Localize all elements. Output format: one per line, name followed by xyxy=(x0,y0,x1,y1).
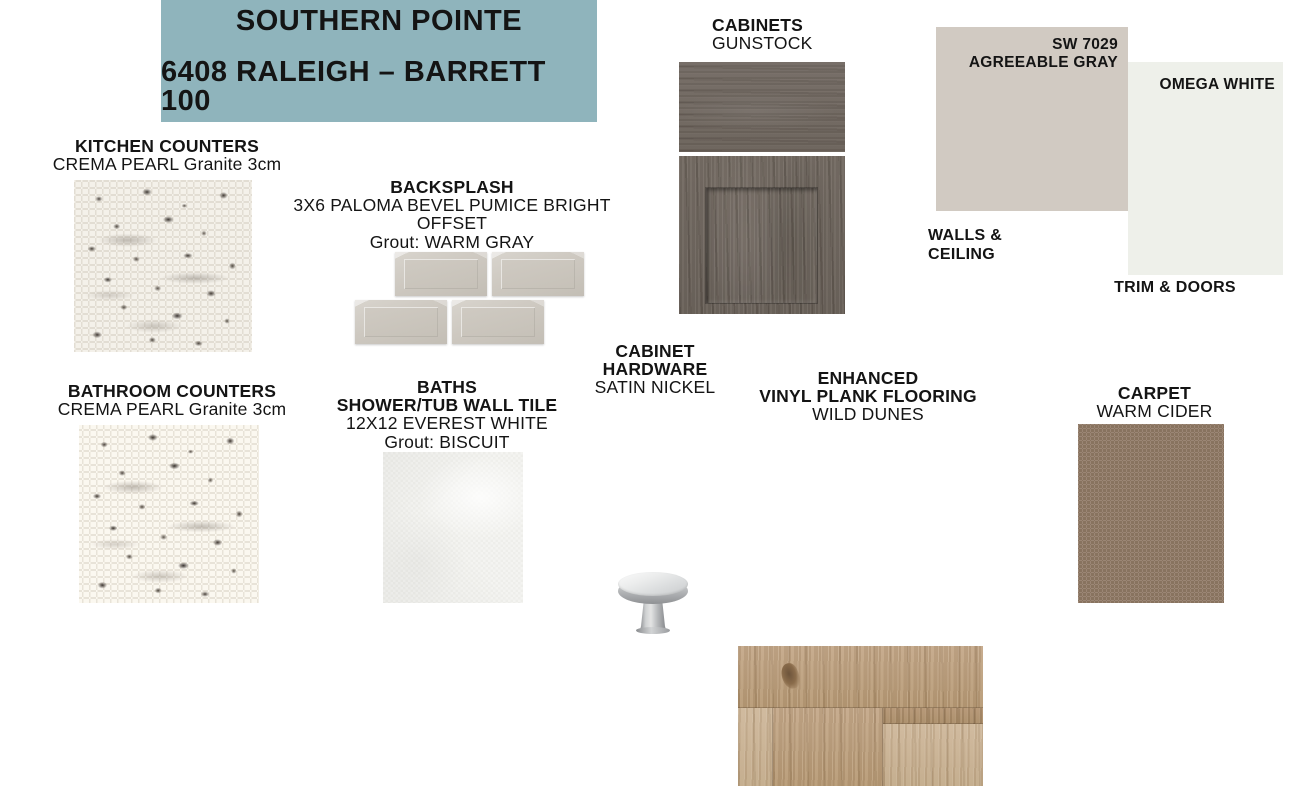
cabinet-hardware-heading: CABINET xyxy=(583,342,727,360)
bathroom-counters-swatch[interactable] xyxy=(79,425,259,603)
vinyl-plank xyxy=(738,708,773,786)
flooring-swatch[interactable] xyxy=(738,646,983,786)
board-title-banner: SOUTHERN POINTE 6408 RALEIGH – BARRETT 1… xyxy=(161,0,597,122)
carpet-label: CARPET WARM CIDER xyxy=(1022,384,1287,420)
flooring-heading2: VINYL PLANK FLOORING xyxy=(718,387,1018,405)
knob-top xyxy=(618,572,688,596)
plank-seam xyxy=(882,708,883,786)
board-title-line1: SOUTHERN POINTE xyxy=(236,7,522,36)
kitchen-counters-swatch[interactable] xyxy=(74,180,252,352)
cabinet-drawer-swatch[interactable] xyxy=(679,62,845,152)
baths-heading2: SHOWER/TUB WALL TILE xyxy=(330,396,564,414)
subway-tile xyxy=(492,252,584,296)
walls-ceiling-caption-line2: CEILING xyxy=(928,245,1088,264)
plank-seam xyxy=(738,707,983,708)
flooring-subheading: WILD DUNES xyxy=(718,405,1018,423)
walls-ceiling-paint-code-name: SW 7029 AGREEABLE GRAY xyxy=(936,36,1118,73)
cabinet-knob-swatch[interactable] xyxy=(613,570,693,632)
backsplash-line2: 3X6 PALOMA BEVEL PUMICE BRIGHT xyxy=(276,196,628,214)
carpet-swatch[interactable] xyxy=(1078,424,1224,603)
kitchen-counters-heading: KITCHEN COUNTERS xyxy=(0,137,334,155)
backsplash-line4: Grout: WARM GRAY xyxy=(276,233,628,251)
subway-tile xyxy=(355,300,447,344)
baths-heading: BATHS xyxy=(330,378,564,396)
cabinet-hardware-label: CABINET HARDWARE SATIN NICKEL xyxy=(583,342,727,397)
vinyl-plank xyxy=(773,708,883,786)
flooring-label: ENHANCED VINYL PLANK FLOORING WILD DUNES xyxy=(718,369,1018,424)
subway-tile xyxy=(395,252,487,296)
carpet-subheading: WARM CIDER xyxy=(1022,402,1287,420)
backsplash-line3: OFFSET xyxy=(276,214,628,232)
backsplash-swatch[interactable] xyxy=(350,252,560,344)
bathroom-counters-subheading: CREMA PEARL Granite 3cm xyxy=(0,400,344,418)
backsplash-label: BACKSPLASH 3X6 PALOMA BEVEL PUMICE BRIGH… xyxy=(276,178,628,251)
paint-code: SW 7029 xyxy=(936,36,1118,54)
walls-ceiling-caption-line1: WALLS & xyxy=(928,226,1088,245)
cabinet-door-swatch[interactable] xyxy=(679,156,845,314)
board-title-line2: 6408 RALEIGH – BARRETT 100 xyxy=(161,58,597,116)
trim-doors-caption: TRIM & DOORS xyxy=(1060,279,1290,297)
paint-name: AGREEABLE GRAY xyxy=(936,54,1118,72)
baths-label: BATHS SHOWER/TUB WALL TILE 12X12 EVEREST… xyxy=(330,378,564,451)
walls-ceiling-caption: WALLS & CEILING xyxy=(928,226,1088,264)
baths-line4: Grout: BISCUIT xyxy=(330,433,564,451)
kitchen-counters-subheading: CREMA PEARL Granite 3cm xyxy=(0,155,334,173)
cabinet-door-recessed-panel xyxy=(706,188,817,303)
subway-tile xyxy=(452,300,544,344)
flooring-heading: ENHANCED xyxy=(718,369,1018,387)
bathroom-counters-label: BATHROOM COUNTERS CREMA PEARL Granite 3c… xyxy=(0,382,344,418)
vinyl-plank xyxy=(883,708,983,724)
bathroom-counters-heading: BATHROOM COUNTERS xyxy=(0,382,344,400)
baths-tile-swatch[interactable] xyxy=(383,452,523,603)
vinyl-plank xyxy=(738,646,983,708)
knob-base xyxy=(636,627,670,634)
carpet-heading: CARPET xyxy=(1022,384,1287,402)
baths-line3: 12X12 EVEREST WHITE xyxy=(330,414,564,432)
plank-seam xyxy=(883,723,983,724)
paint-name: OMEGA WHITE xyxy=(1120,76,1275,94)
trim-doors-caption-text: TRIM & DOORS xyxy=(1114,279,1236,296)
kitchen-counters-label: KITCHEN COUNTERS CREMA PEARL Granite 3cm xyxy=(0,137,334,173)
vinyl-plank xyxy=(883,724,983,786)
plank-seam xyxy=(772,708,773,786)
backsplash-heading: BACKSPLASH xyxy=(276,178,628,196)
cabinet-hardware-subheading: SATIN NICKEL xyxy=(583,378,727,396)
cabinet-hardware-heading2: HARDWARE xyxy=(583,360,727,378)
trim-doors-paint-name: OMEGA WHITE xyxy=(1120,76,1275,94)
